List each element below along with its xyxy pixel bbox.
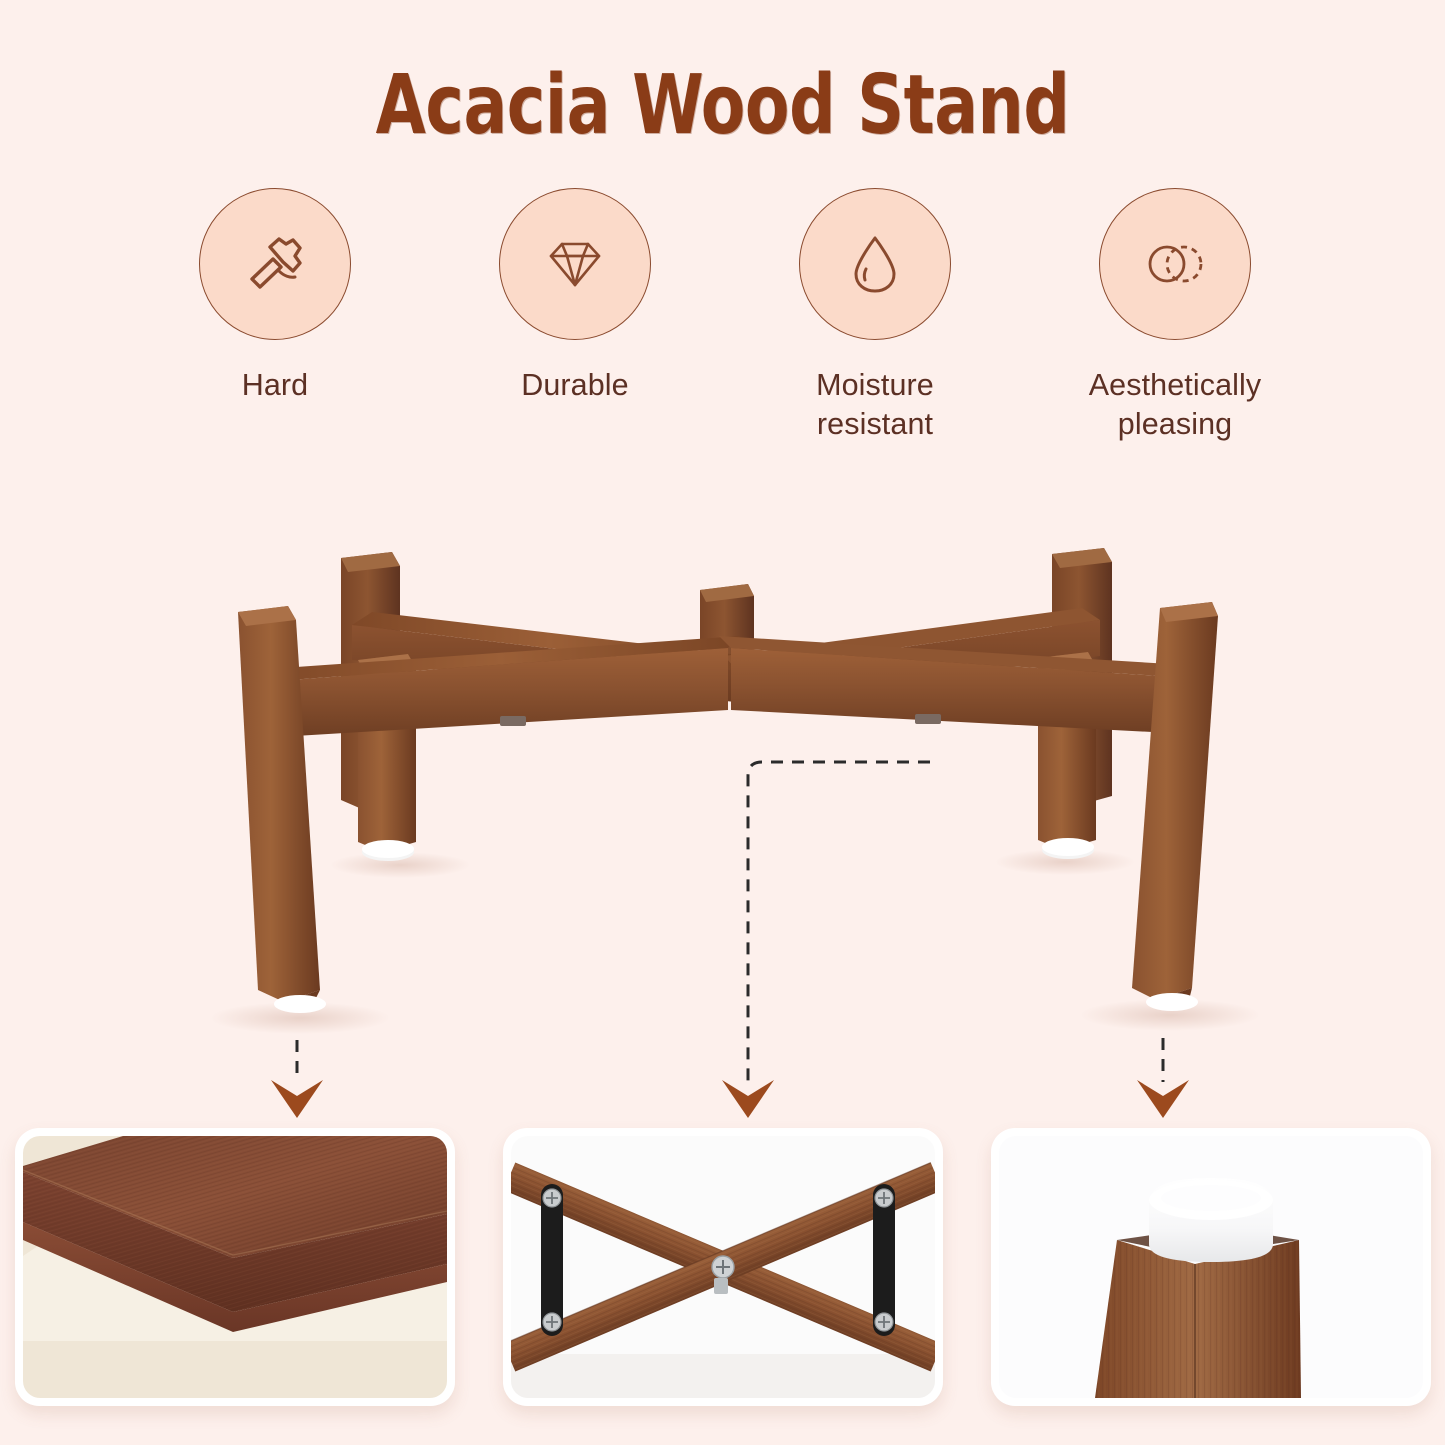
water-droplet-icon — [838, 227, 912, 301]
rail-bracket — [915, 714, 941, 724]
detail-image-foot-pad — [999, 1136, 1423, 1398]
hero-product-image — [0, 470, 1445, 1130]
detail-panel-wood-grain — [15, 1128, 455, 1406]
feature-item-hard: Hard — [150, 188, 400, 405]
diamond-icon — [538, 227, 612, 301]
feature-item-durable: Durable — [450, 188, 700, 405]
feature-label: Hard — [242, 366, 309, 405]
detail-image-wood-grain — [23, 1136, 447, 1398]
detail-panel-list — [0, 1128, 1445, 1410]
stand-rail-front-right — [719, 636, 1190, 734]
feature-item-moisture-resistant: Moistureresistant — [750, 188, 1000, 444]
product-illustration — [0, 470, 1445, 1130]
feature-label: Moistureresistant — [816, 366, 934, 444]
hammer-icon — [238, 227, 312, 301]
feature-list: Hard Durable — [150, 188, 1300, 444]
feature-icon-circle — [799, 188, 951, 340]
feature-icon-circle — [1099, 188, 1251, 340]
rail-bracket — [500, 716, 526, 726]
feature-icon-circle — [499, 188, 651, 340]
detail-panel-cross-brace — [503, 1128, 943, 1406]
detail-panel-foot-pad — [991, 1128, 1431, 1406]
metal-strap-left — [541, 1184, 563, 1336]
detail-image-cross-brace — [511, 1136, 935, 1398]
feature-icon-circle — [199, 188, 351, 340]
metal-strap-right — [873, 1184, 895, 1336]
page-title: Acacia Wood Stand — [87, 58, 1359, 153]
rubber-foot-pad — [1149, 1178, 1273, 1262]
overlapping-circles-icon — [1138, 227, 1212, 301]
feature-label: Durable — [521, 366, 629, 405]
feature-item-aesthetically-pleasing: Aestheticallypleasing — [1050, 188, 1300, 444]
feature-label: Aestheticallypleasing — [1089, 366, 1262, 444]
